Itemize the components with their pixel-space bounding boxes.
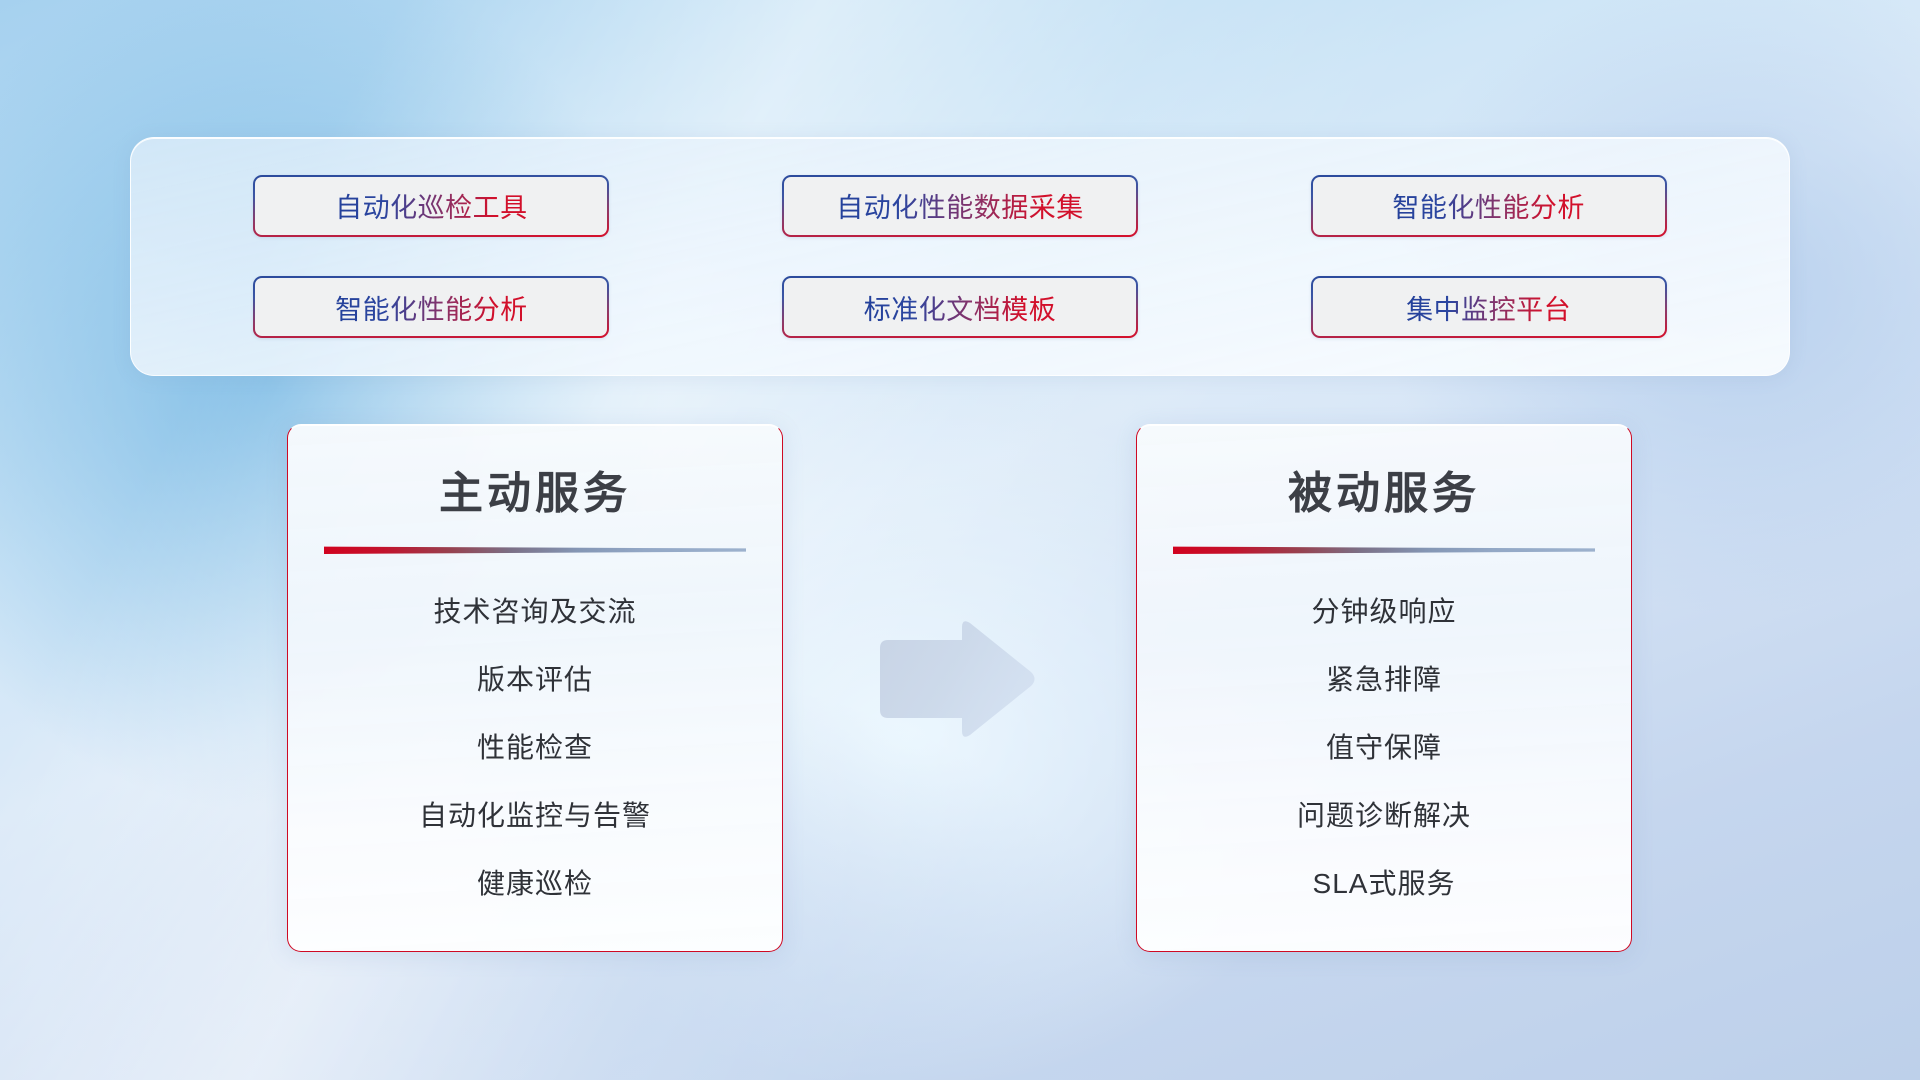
capability-tag-label: 集中监控平台 <box>1406 288 1571 327</box>
card-title-divider <box>1173 545 1595 554</box>
card-item-list: 分钟级响应 紧急排障 值守保障 问题诊断解决 SLA式服务 <box>1137 584 1631 912</box>
list-item: 技术咨询及交流 <box>433 584 636 640</box>
card-title-divider <box>324 545 746 554</box>
card-title: 被动服务 <box>1288 457 1480 521</box>
capability-tag-label: 自动化巡检工具 <box>335 186 528 225</box>
capability-tag-4[interactable]: 标准化文档模板 <box>782 276 1138 338</box>
capability-tag-0[interactable]: 自动化巡检工具 <box>253 175 609 237</box>
arrow-right-icon <box>874 618 1038 740</box>
list-item: 健康巡检 <box>477 856 593 912</box>
service-card-reactive: 被动服务 分钟级响应 紧急排障 值守保障 问题诊断解决 SLA式服务 <box>1136 424 1632 952</box>
capability-tag-1[interactable]: 自动化性能数据采集 <box>782 175 1138 237</box>
capability-tag-label: 智能化性能分析 <box>1392 186 1585 225</box>
list-item: 问题诊断解决 <box>1297 788 1471 844</box>
list-item: 值守保障 <box>1326 720 1442 776</box>
list-item: 紧急排障 <box>1326 652 1442 708</box>
capability-tag-3[interactable]: 智能化性能分析 <box>253 276 609 338</box>
list-item: 分钟级响应 <box>1311 584 1456 640</box>
card-title: 主动服务 <box>439 457 631 521</box>
capability-tag-label: 标准化文档模板 <box>864 288 1057 327</box>
capability-tag-2[interactable]: 智能化性能分析 <box>1311 175 1667 237</box>
capability-tag-5[interactable]: 集中监控平台 <box>1311 276 1667 338</box>
capability-tag-label: 自动化性能数据采集 <box>836 186 1084 225</box>
list-item: SLA式服务 <box>1313 856 1456 912</box>
list-item: 自动化监控与告警 <box>419 788 651 844</box>
card-item-list: 技术咨询及交流 版本评估 性能检查 自动化监控与告警 健康巡检 <box>288 584 782 912</box>
service-card-proactive: 主动服务 技术咨询及交流 版本评估 性能检查 自动化监控与告警 健康巡检 <box>287 424 783 952</box>
list-item: 版本评估 <box>477 652 593 708</box>
list-item: 性能检查 <box>477 720 593 776</box>
capability-tag-panel: 自动化巡检工具 自动化性能数据采集 智能化性能分析 智能化性能分析 标准化文档模… <box>130 137 1790 376</box>
capability-tag-label: 智能化性能分析 <box>335 288 528 327</box>
